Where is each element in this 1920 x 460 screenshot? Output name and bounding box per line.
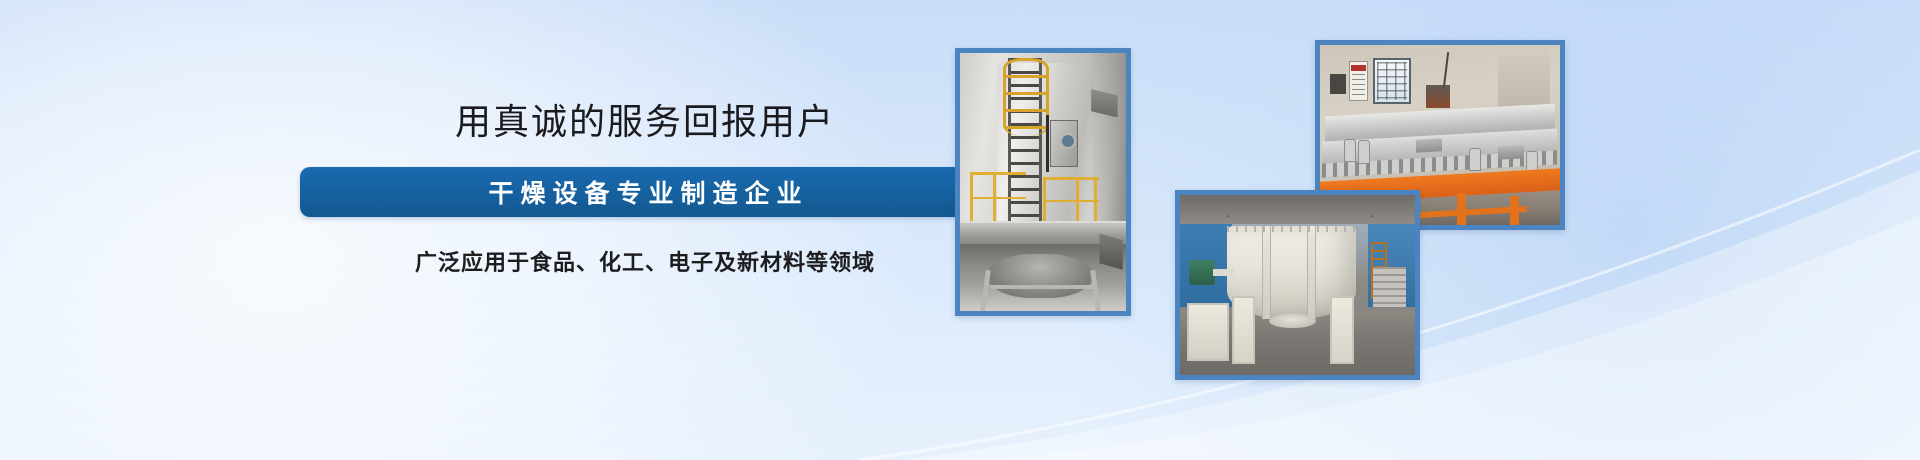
banner-subline: 广泛应用于食品、化工、电子及新材料等领域 (300, 245, 990, 277)
photo-horizontal-ribbon-mixer (1175, 190, 1420, 380)
hero-banner: 用真诚的服务回报用户 干燥设备专业制造企业 广泛应用于食品、化工、电子及新材料等… (0, 0, 1920, 460)
banner-copy: 用真诚的服务回报用户 干燥设备专业制造企业 广泛应用于食品、化工、电子及新材料等… (300, 104, 990, 277)
slogan-badge-label: 干燥设备专业制造企业 (481, 174, 808, 210)
photo-spray-drying-tower (955, 48, 1131, 316)
banner-headline: 用真诚的服务回报用户 (300, 104, 990, 140)
slogan-badge: 干燥设备专业制造企业 (300, 167, 990, 217)
